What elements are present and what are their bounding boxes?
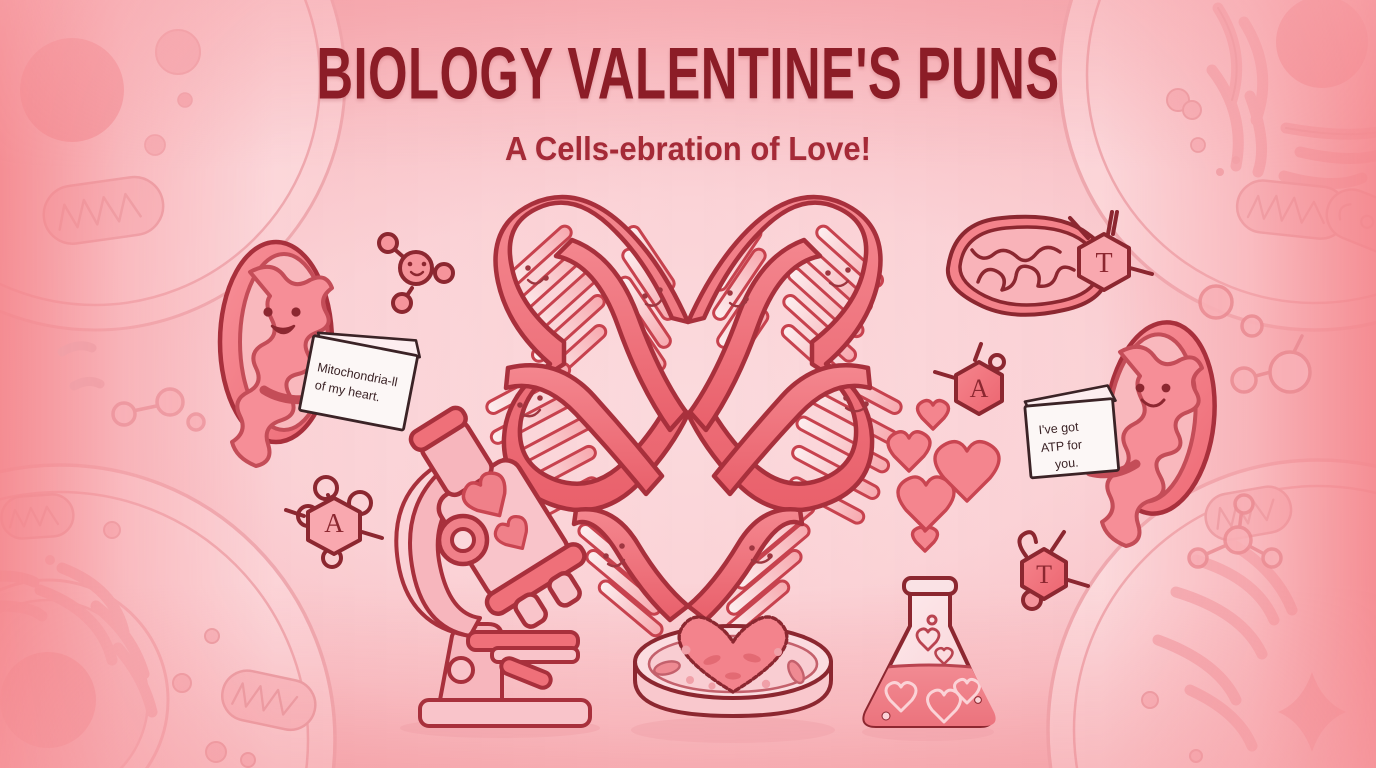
dash-marks	[62, 346, 100, 386]
poster-canvas: BIOLOGY VALENTINE'S PUNS A Cells-ebratio…	[0, 0, 1376, 768]
atp-card-line-3: you.	[1054, 455, 1079, 471]
svg-text:A: A	[324, 508, 344, 538]
nucleotide-t-bottom: T	[1019, 532, 1088, 609]
flask	[850, 401, 1010, 742]
nucleotide-a-left: A	[286, 477, 382, 567]
nucleotide-t-top: T	[1070, 212, 1152, 290]
molecule-right	[1200, 286, 1310, 392]
foreground-illustrations: A A T	[0, 0, 1376, 768]
svg-text:A: A	[970, 374, 989, 403]
molecule-bottom-right	[1189, 495, 1281, 567]
molecule-left	[379, 234, 453, 312]
molecule-top-left-faint	[113, 389, 204, 430]
svg-text:T: T	[1036, 560, 1052, 589]
svg-text:T: T	[1095, 248, 1112, 279]
petri-dish	[631, 617, 835, 743]
rising-hearts	[888, 401, 999, 551]
